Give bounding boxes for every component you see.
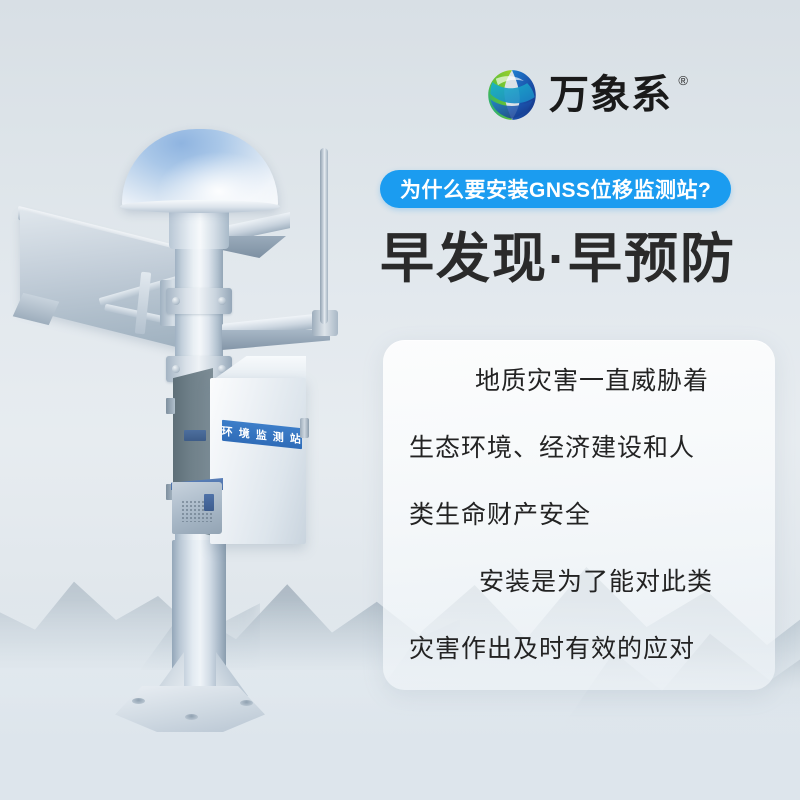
question-badge-text: 为什么要安装GNSS位移监测站? [400, 174, 711, 204]
content-column: 万象系 ® 为什么要安装GNSS位移监测站? 早发现·早预防 地质灾害一直威胁着… [370, 0, 800, 800]
anchor-hole-icon [132, 698, 145, 704]
body-line: 安装是为了能对此类 [409, 567, 749, 597]
enclosure-clip [204, 494, 214, 511]
pole-clamp [166, 288, 232, 314]
enclosure-latch [300, 418, 309, 438]
equipment-enclosure [210, 378, 306, 544]
bolt-icon [218, 297, 226, 305]
question-badge[interactable]: 为什么要安装GNSS位移监测站? [380, 170, 731, 208]
headline: 早发现·早预防 [380, 228, 736, 290]
body-line: 生态环境、经济建设和人 [409, 433, 749, 463]
body-panel-lines: 地质灾害一直威胁着 生态环境、经济建设和人 类生命财产安全 安装是为了能对此类 … [383, 340, 775, 690]
base-plate [115, 686, 265, 732]
bolt-icon [172, 297, 180, 305]
anchor-hole-icon [240, 700, 253, 706]
body-line: 地质灾害一直威胁着 [409, 366, 749, 396]
anchor-hole-icon [185, 714, 198, 720]
antenna-rim [120, 200, 280, 213]
brand-name-wrap: 万象系 ® [549, 75, 672, 115]
brand-logo: 万象系 ® [485, 68, 672, 122]
bolt-icon [172, 365, 180, 373]
whip-antenna-icon [320, 148, 328, 324]
enclosure-hinge [166, 398, 175, 414]
poster-root: 环 境 监 测 站 [0, 0, 800, 800]
product-illustration: 环 境 监 测 站 [0, 0, 400, 800]
enclosure-port [184, 430, 206, 441]
brand-name: 万象系 [549, 75, 672, 115]
registered-mark-icon: ® [678, 73, 688, 88]
globe-swirl-logo-icon [485, 68, 539, 122]
body-panel: 地质灾害一直威胁着 生态环境、经济建设和人 类生命财产安全 安装是为了能对此类 … [383, 340, 775, 690]
gnss-dome-antenna-icon [122, 129, 278, 209]
body-line: 类生命财产安全 [409, 500, 749, 530]
body-line: 灾害作出及时有效的应对 [409, 634, 749, 664]
